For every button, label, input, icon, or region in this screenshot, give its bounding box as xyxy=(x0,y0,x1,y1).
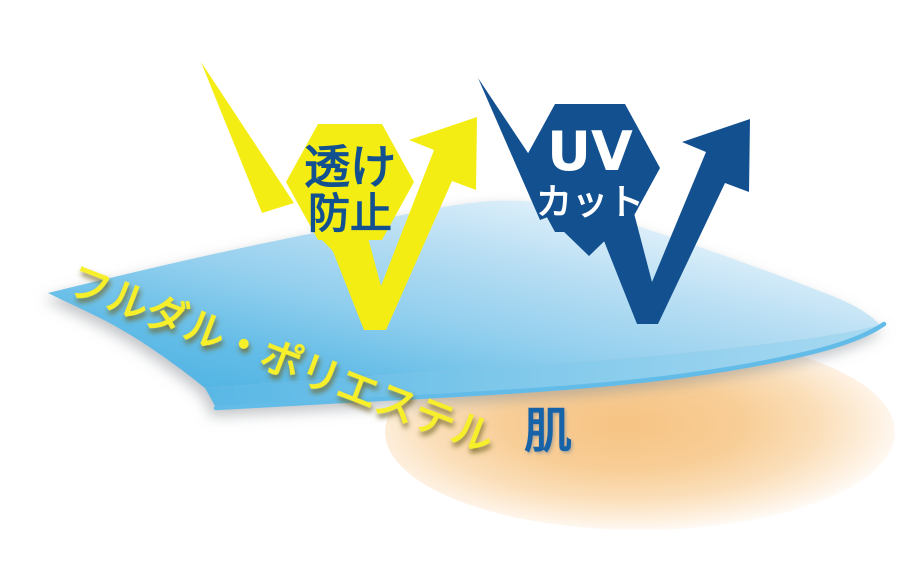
uv-cut-badge-line2: カット xyxy=(536,182,644,223)
skin-label: 肌 xyxy=(524,403,572,459)
see-through-badge-line2: 防止 xyxy=(308,189,392,238)
uv-fabric-diagram: 透け 防止 UV カット フルダル・ポリエステル 肌 xyxy=(0,0,900,587)
incoming-light-ray xyxy=(201,62,294,213)
diagram-canvas: 透け 防止 UV カット フルダル・ポリエステル 肌 xyxy=(0,0,900,587)
uv-cut-badge-line1: UV xyxy=(547,120,633,183)
skin-label-text: 肌 xyxy=(524,403,572,459)
see-through-badge-line1: 透け xyxy=(304,140,396,194)
incoming-light-ray-shape xyxy=(201,62,294,213)
